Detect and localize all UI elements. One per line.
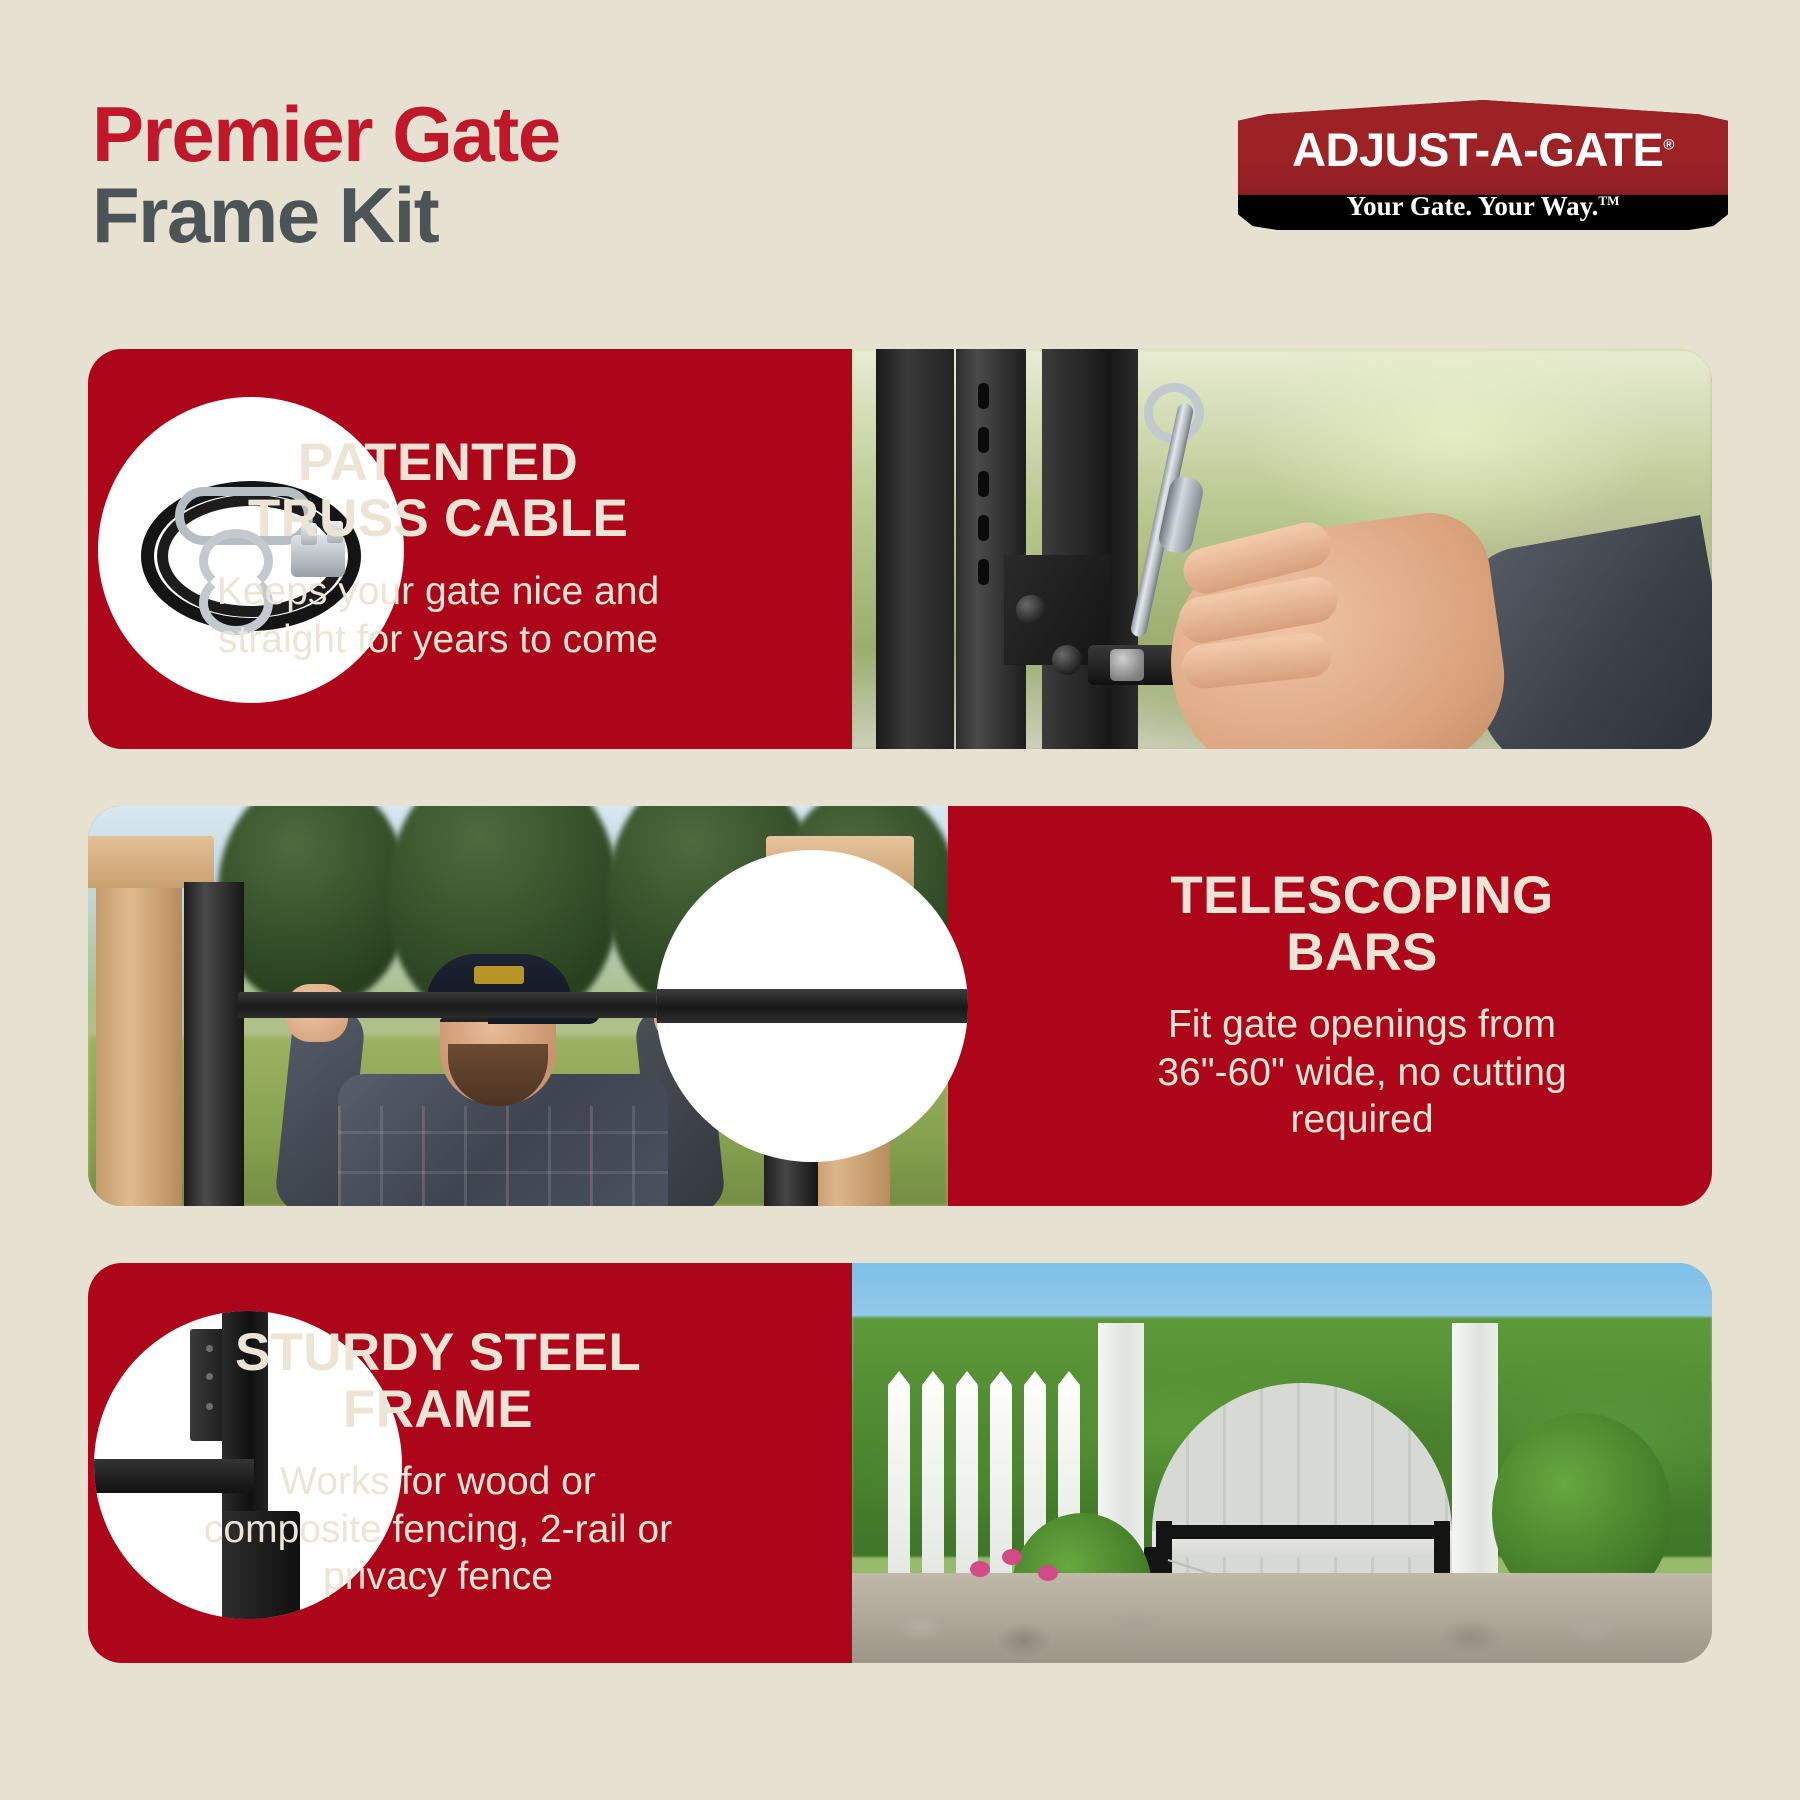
flower bbox=[970, 1561, 990, 1577]
feature-body: Works for wood or composite fencing, 2-r… bbox=[204, 1458, 672, 1601]
bolt bbox=[1016, 595, 1046, 625]
steel-upright-left bbox=[184, 882, 244, 1206]
gate-post-middle bbox=[956, 349, 1026, 749]
telescoping-bar-closeup bbox=[656, 989, 968, 1023]
gate-post-left bbox=[876, 349, 954, 749]
cap-logo-patch bbox=[474, 966, 524, 984]
title-line-primary: Premier Gate bbox=[92, 96, 560, 172]
wood-gate-post-left bbox=[96, 866, 182, 1206]
bolt bbox=[1052, 645, 1082, 675]
picket bbox=[888, 1383, 910, 1583]
feature-photo-truss-cable bbox=[852, 349, 1712, 749]
river-rock-border bbox=[852, 1573, 1712, 1663]
logo-tagline: Your Gate. Your Way.TM bbox=[1238, 191, 1728, 222]
feature-panel-sturdy-steel-frame: STURDY STEEL FRAME Works for wood or com… bbox=[88, 1263, 1712, 1663]
registered-trademark-icon: ® bbox=[1663, 136, 1674, 153]
feature-photo-steel-frame bbox=[852, 1263, 1712, 1663]
plaid-shirt-pattern bbox=[338, 1106, 668, 1206]
post-slot bbox=[978, 559, 989, 585]
tree bbox=[218, 806, 408, 1006]
page-header: Premier Gate Frame Kit ADJUST-A-GATE® Yo… bbox=[0, 0, 1800, 300]
post-slot bbox=[978, 427, 989, 453]
feature-heading: PATENTED TRUSS CABLE bbox=[248, 435, 628, 548]
feature-body: Keeps your gate nice and straight for ye… bbox=[217, 568, 659, 663]
feature-body: Fit gate openings from 36"-60" wide, no … bbox=[1157, 1001, 1566, 1144]
page-title: Premier Gate Frame Kit bbox=[92, 96, 560, 256]
wood-post-cap-left bbox=[88, 836, 214, 888]
steel-frame-top-rail bbox=[1156, 1525, 1448, 1539]
trademark-icon: TM bbox=[1598, 193, 1619, 208]
flower bbox=[1038, 1565, 1058, 1581]
hinge-nut bbox=[1110, 649, 1144, 681]
feature-text-steel-frame: STURDY STEEL FRAME Works for wood or com… bbox=[88, 1263, 788, 1663]
feature-text-truss-cable: PATENTED TRUSS CABLE Keeps your gate nic… bbox=[88, 349, 788, 749]
feature-heading: TELESCOPING BARS bbox=[1170, 868, 1553, 981]
picket bbox=[956, 1383, 978, 1583]
feature-heading: STURDY STEEL FRAME bbox=[235, 1325, 641, 1438]
post-slot bbox=[978, 515, 989, 541]
feature-text-telescoping-bars: TELESCOPING BARS Fit gate openings from … bbox=[1012, 806, 1712, 1206]
post-slot bbox=[978, 383, 989, 409]
circle-inset-telescoping-bar bbox=[656, 850, 968, 1162]
post-slot bbox=[978, 471, 989, 497]
flower bbox=[1002, 1549, 1022, 1565]
picket bbox=[922, 1383, 944, 1583]
brand-logo: ADJUST-A-GATE® Your Gate. Your Way.TM bbox=[1238, 100, 1728, 230]
logo-tagline-text: Your Gate. Your Way. bbox=[1347, 191, 1599, 221]
feature-panel-truss-cable: PATENTED TRUSS CABLE Keeps your gate nic… bbox=[88, 349, 1712, 749]
feature-panel-telescoping-bars: TELESCOPING BARS Fit gate openings from … bbox=[88, 806, 1712, 1206]
title-line-secondary: Frame Kit bbox=[92, 176, 560, 256]
gate-post-right bbox=[1042, 349, 1138, 749]
logo-wordmark: ADJUST-A-GATE® bbox=[1238, 122, 1728, 177]
logo-wordmark-text: ADJUST-A-GATE bbox=[1292, 123, 1663, 176]
